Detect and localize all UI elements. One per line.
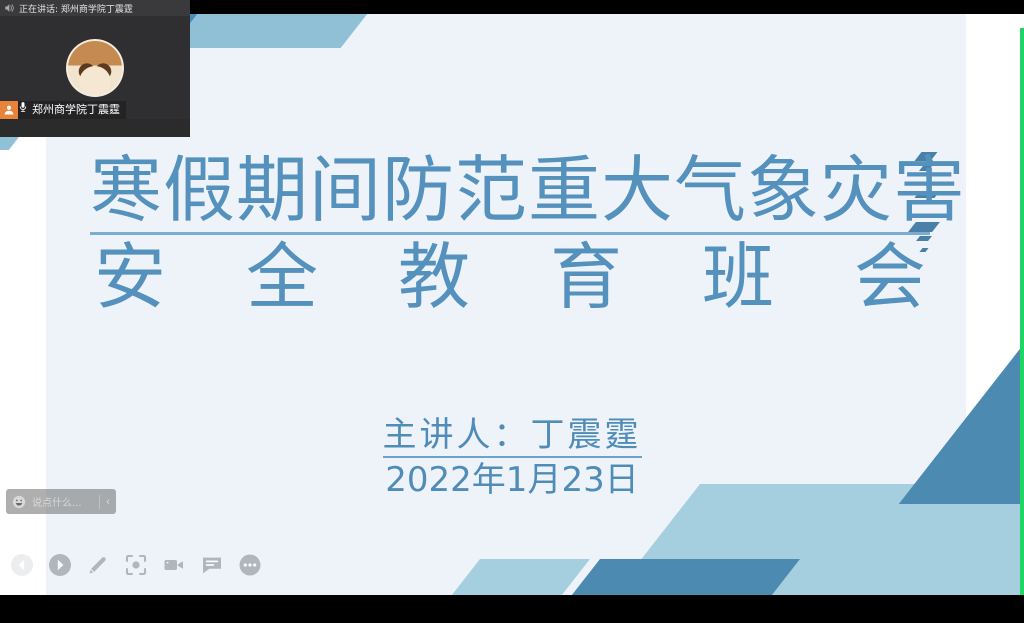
speaker-icon (3, 2, 15, 14)
slide-subtitle-block: 主讲人：丁震霆 2022年1月23日 (0, 414, 1024, 502)
screenshot-button[interactable] (122, 551, 150, 579)
slide-title-line-2: 安 全 教 育 班 会 (90, 235, 930, 319)
title-char-5: 班 (702, 235, 774, 319)
chat-input-placeholder[interactable]: 说点什么... (32, 494, 99, 509)
participant-name: 郑州商学院丁震霆 (18, 101, 126, 119)
arrow-right-circle-icon (48, 553, 72, 577)
smiley-icon[interactable] (6, 495, 32, 509)
chat-bubble-icon (200, 553, 224, 577)
participant-name-text: 郑州商学院丁震霆 (32, 103, 120, 116)
chevron-left-icon[interactable]: ‹ (99, 495, 116, 509)
focus-frame-icon (124, 553, 148, 577)
video-feed-area: 郑州商学院丁震霆 (0, 16, 190, 119)
slide-presenter: 主讲人：丁震霆 (383, 414, 642, 458)
more-button[interactable] (236, 551, 264, 579)
participant-name-bar: 郑州商学院丁震霆 (0, 101, 126, 119)
arrow-left-circle-icon (10, 553, 34, 577)
slide-toolbar[interactable] (8, 548, 264, 582)
next-slide-button[interactable] (46, 551, 74, 579)
video-button[interactable] (160, 551, 188, 579)
video-camera-icon (162, 553, 186, 577)
title-char-4: 育 (550, 235, 622, 319)
chat-input[interactable]: 说点什么... ‹ (6, 489, 116, 514)
title-char-6: 会 (854, 235, 926, 319)
title-char-1: 安 (94, 235, 166, 319)
chat-button[interactable] (198, 551, 226, 579)
decor-band-top-left-light (171, 14, 375, 48)
title-char-2: 全 (246, 235, 318, 319)
slide-title-block: 寒假期间防范重大气象灾害 安 全 教 育 班 会 (90, 148, 930, 319)
annotate-button[interactable] (84, 551, 112, 579)
title-char-3: 教 (398, 235, 470, 319)
avatar (66, 39, 124, 97)
decor-band-bottom-dark (561, 559, 800, 595)
speaking-banner: 正在讲话: 郑州商学院丁震霆 (0, 0, 190, 16)
user-icon (0, 101, 18, 119)
pencil-icon (86, 553, 110, 577)
microphone-icon (18, 101, 32, 119)
ellipsis-icon (238, 553, 262, 577)
slide-date: 2022年1月23日 (0, 458, 1024, 502)
previous-slide-button[interactable] (8, 551, 36, 579)
screen-share-window: 寒假期间防范重大气象灾害 安 全 教 育 班 会 主讲人：丁震霆 2022年1月… (0, 0, 1024, 623)
speaking-banner-text: 正在讲话: 郑州商学院丁震霆 (19, 2, 133, 15)
slide-title-line-1: 寒假期间防范重大气象灾害 (90, 148, 930, 235)
speaker-video-panel[interactable]: 正在讲话: 郑州商学院丁震霆 郑州商学院丁震 (0, 0, 190, 137)
screen-share-border-indicator (1020, 28, 1024, 595)
